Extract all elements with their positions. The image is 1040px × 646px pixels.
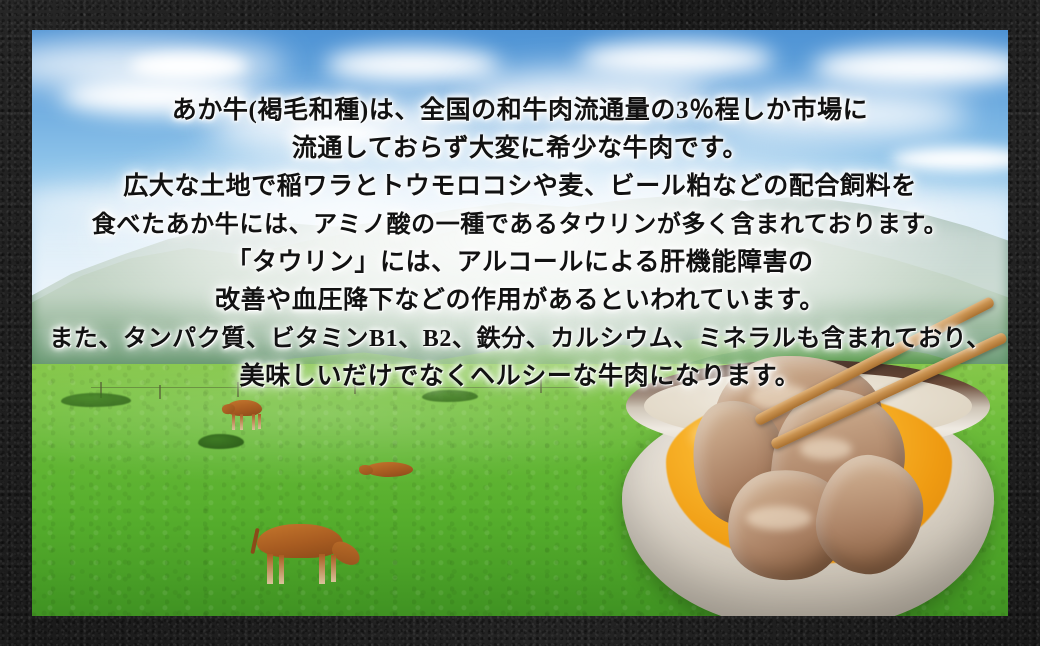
copy-line-8: 美味しいだけでなくヘルシーな牛肉になります。: [32, 358, 1008, 396]
copy-line-7: また、タンパク質、ビタミンB1、B2、鉄分、カルシウム、ミネラルも含まれており、: [32, 320, 1008, 358]
copy-line-4: 食べたあか牛には、アミノ酸の一種であるタウリンが多く含まれております。: [32, 206, 1008, 244]
cow-grazing-foreground: [247, 522, 365, 588]
cow-lying-midground: [359, 458, 421, 480]
copy-line-1: あか牛(褐毛和種)は、全国の和牛肉流通量の3％程しか市場に: [32, 92, 1008, 130]
copy-line-2: 流通しておらず大変に希少な牛肉です。: [32, 130, 1008, 168]
sukiyaki-bowl: [622, 360, 1008, 616]
copy-line-5: 「タウリン」には、アルコールによる肝機能障害の: [32, 244, 1008, 282]
copy-line-6: 改善や血圧降下などの作用があるといわれています。: [32, 282, 1008, 320]
description-text-block: あか牛(褐毛和種)は、全国の和牛肉流通量の3％程しか市場に 流通しておらず大変に…: [32, 92, 1008, 396]
landscape-photo: あか牛(褐毛和種)は、全国の和牛肉流通量の3％程しか市場に 流通しておらず大変に…: [32, 30, 1008, 616]
copy-line-3: 広大な土地で稲ワラとトウモロコシや麦、ビール粕などの配合飼料を: [32, 168, 1008, 206]
promo-banner: あか牛(褐毛和種)は、全国の和牛肉流通量の3％程しか市場に 流通しておらず大変に…: [0, 0, 1040, 646]
cow-standing-background: [222, 399, 274, 433]
